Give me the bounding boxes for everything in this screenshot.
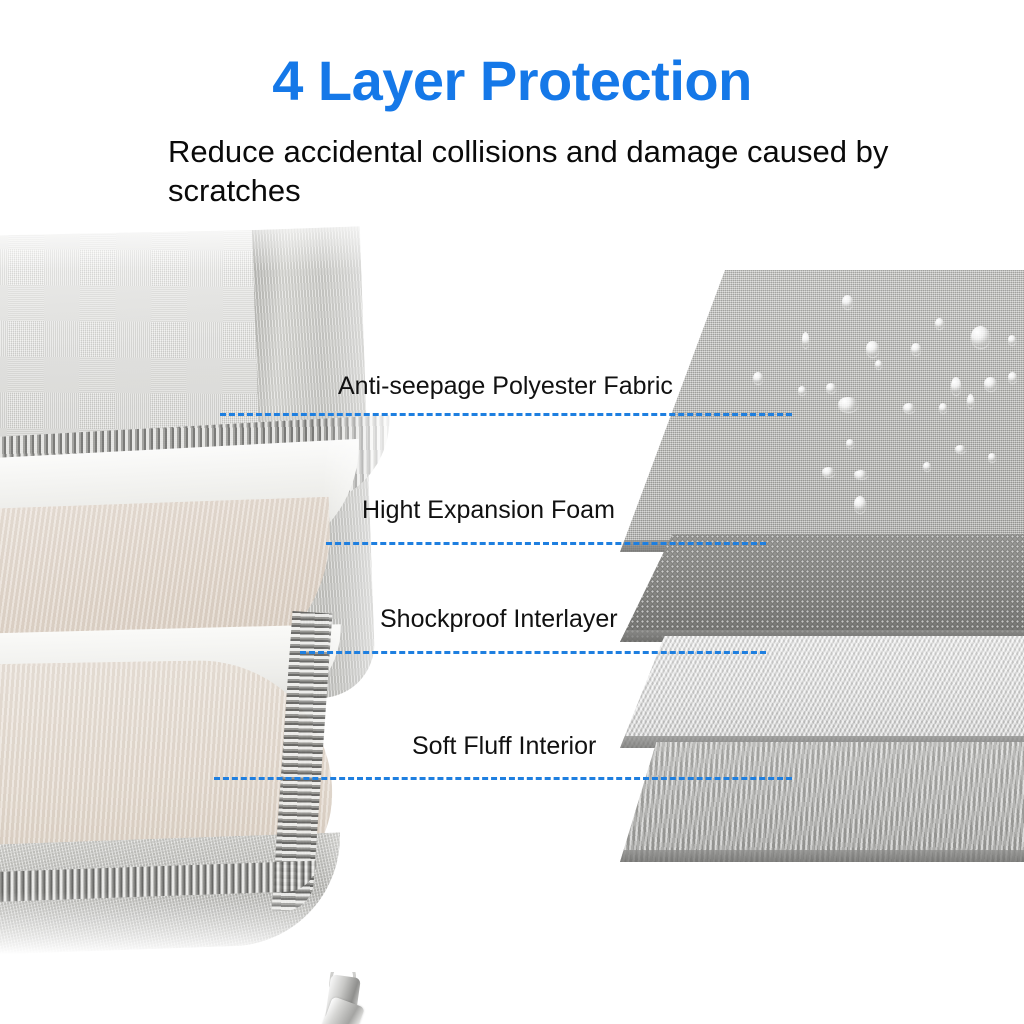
callout-label-polyester-fabric: Anti-seepage Polyester Fabric: [338, 372, 673, 401]
soft-fluff-texture: [620, 742, 1024, 862]
page-title: 4 Layer Protection: [0, 48, 1024, 113]
water-droplets: [620, 270, 1024, 552]
page-subtitle: Reduce accidental collisions and damage …: [168, 133, 928, 211]
expansion-foam-texture: [620, 534, 1024, 642]
swatch-polyester-fabric: [620, 270, 1024, 552]
leader-line-2: [326, 542, 766, 545]
leader-line-3: [300, 651, 766, 654]
swatch-soft-fluff: [620, 742, 1024, 862]
photo-fade-right: [322, 192, 452, 972]
laptop-sleeve-photo: [0, 232, 444, 948]
swatch-expansion-foam: [620, 534, 1024, 642]
infographic-canvas: 4 Layer Protection Reduce accidental col…: [0, 0, 1024, 1024]
swatch-4-edge: [620, 850, 1024, 862]
material-layer-stack: [620, 270, 1024, 860]
leader-line-4: [214, 777, 792, 780]
leader-line-1: [220, 413, 792, 416]
callout-label-soft-fluff: Soft Fluff Interior: [412, 732, 596, 761]
callout-label-expansion-foam: Hight Expansion Foam: [362, 496, 615, 525]
callout-label-shockproof-interlayer: Shockproof Interlayer: [380, 605, 618, 634]
